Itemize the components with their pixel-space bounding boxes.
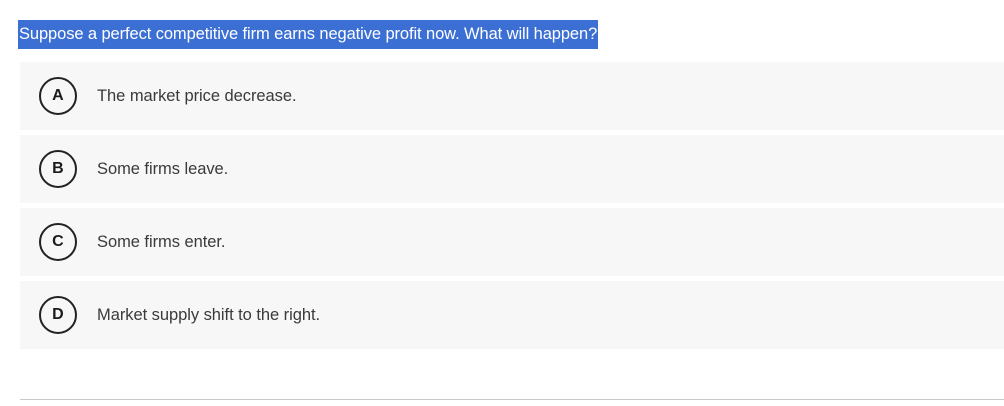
question-prompt: Suppose a perfect competitive firm earns… <box>18 14 1004 54</box>
option-letter-badge-c: C <box>39 223 77 261</box>
answer-options-list: A The market price decrease. B Some firm… <box>20 62 1004 349</box>
option-letter-badge-b: B <box>39 150 77 188</box>
question-page: Suppose a perfect competitive firm earns… <box>0 0 1004 406</box>
option-letter-badge-d: D <box>39 296 77 334</box>
option-label-d: Market supply shift to the right. <box>97 303 320 327</box>
answer-option-c[interactable]: C Some firms enter. <box>20 208 1004 276</box>
option-label-a: The market price decrease. <box>97 84 297 108</box>
option-letter-badge-a: A <box>39 77 77 115</box>
answer-option-b[interactable]: B Some firms leave. <box>20 135 1004 203</box>
option-label-b: Some firms leave. <box>97 157 228 181</box>
section-divider <box>20 399 1004 400</box>
answer-option-a[interactable]: A The market price decrease. <box>20 62 1004 130</box>
answer-option-d[interactable]: D Market supply shift to the right. <box>20 281 1004 349</box>
option-label-c: Some firms enter. <box>97 230 225 254</box>
question-text: Suppose a perfect competitive firm earns… <box>18 20 598 49</box>
